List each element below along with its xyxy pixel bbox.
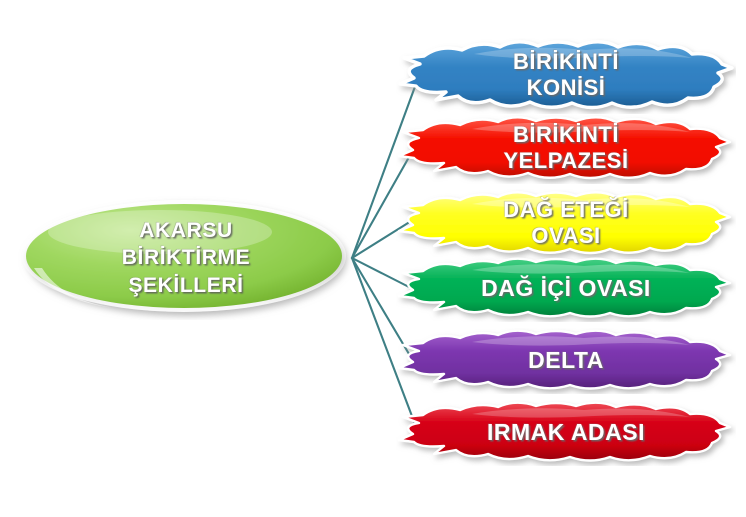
center-node[interactable]: AKARSUBİRİKTİRMEŞEKİLLERİ (18, 196, 354, 320)
branch-node-birikinti-konisi[interactable]: BİRİKİNTİKONİSİ (396, 38, 736, 114)
branch-label-line-1: DELTA (528, 347, 604, 374)
diagram-canvas: AKARSUBİRİKTİRMEŞEKİLLERİ BİRİKİNTİ (0, 0, 746, 517)
branch-label-line-1: BİRİKİNTİ (513, 122, 619, 148)
branch-label-line-1: BİRİKİNTİ (513, 49, 619, 75)
branch-label-irmak-adasi: IRMAK ADASI (396, 400, 736, 466)
branch-label-line-1: DAĞ İÇİ OVASI (481, 275, 651, 302)
branch-label-line-2: YELPAZESİ (503, 148, 628, 174)
branch-label-delta: DELTA (396, 328, 736, 394)
branch-node-delta[interactable]: DELTA (396, 328, 736, 394)
branch-label-line-1: DAĞ ETEĞİ (503, 197, 629, 223)
center-label-line-2: BİRİKTİRME (122, 244, 251, 271)
branch-label-dag-ici-ovasi: DAĞ İÇİ OVASI (396, 256, 736, 322)
branch-node-irmak-adasi[interactable]: IRMAK ADASI (396, 400, 736, 466)
center-node-label: AKARSUBİRİKTİRMEŞEKİLLERİ (18, 196, 354, 320)
center-label-line-3: ŞEKİLLERİ (128, 272, 243, 299)
branch-label-line-1: IRMAK ADASI (487, 419, 645, 446)
branch-node-dag-ici-ovasi[interactable]: DAĞ İÇİ OVASI (396, 256, 736, 322)
branch-label-line-2: KONİSİ (527, 75, 606, 101)
branch-label-birikinti-konisi: BİRİKİNTİKONİSİ (396, 38, 736, 114)
center-label-line-1: AKARSU (139, 217, 232, 244)
branch-label-birikinti-yelpazesi: BİRİKİNTİYELPAZESİ (396, 114, 736, 184)
branch-label-dag-etegi-ovasi: DAĞ ETEĞİOVASI (396, 189, 736, 259)
branch-node-dag-etegi-ovasi[interactable]: DAĞ ETEĞİOVASI (396, 189, 736, 259)
branch-node-birikinti-yelpazesi[interactable]: BİRİKİNTİYELPAZESİ (396, 114, 736, 184)
branch-label-line-2: OVASI (531, 223, 600, 249)
